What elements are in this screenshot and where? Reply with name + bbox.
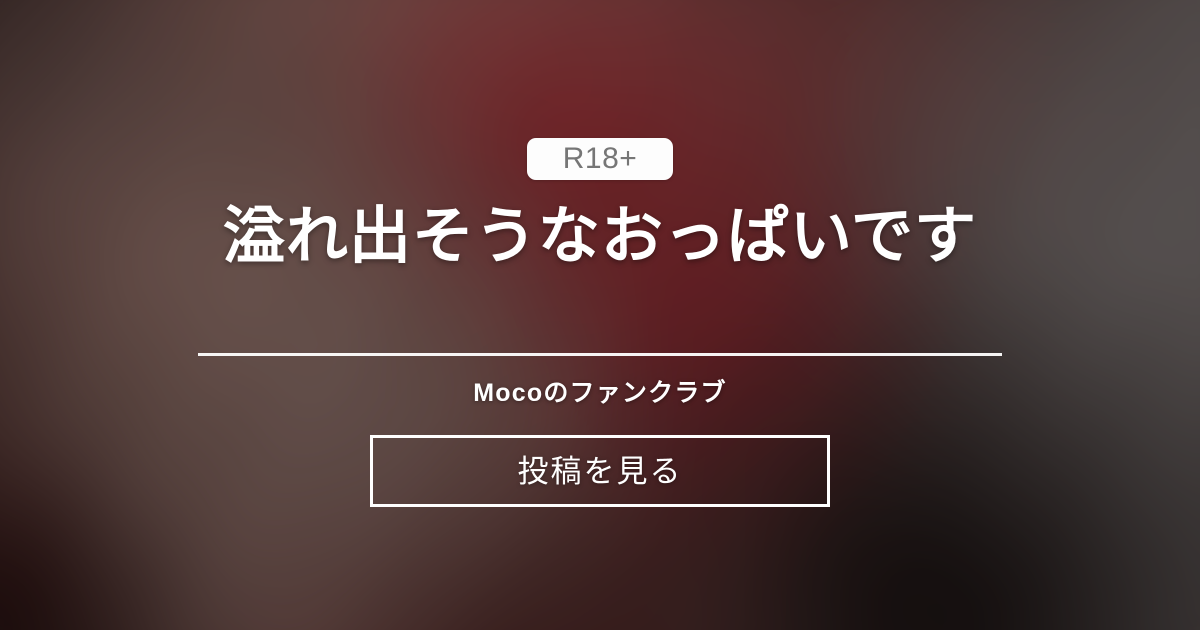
club-name: Mocoのファンクラブ [473,373,726,409]
view-posts-button[interactable]: 投稿を見る [370,435,830,507]
fanclub-share-card: R18+ 溢れ出そうなおっぱいです Mocoのファンクラブ 投稿を見る [0,0,1200,630]
card-content: R18+ 溢れ出そうなおっぱいです Mocoのファンクラブ 投稿を見る [0,0,1200,630]
page-title: 溢れ出そうなおっぱいです [223,202,977,271]
rating-badge: R18+ [527,138,673,180]
divider [198,353,1002,356]
